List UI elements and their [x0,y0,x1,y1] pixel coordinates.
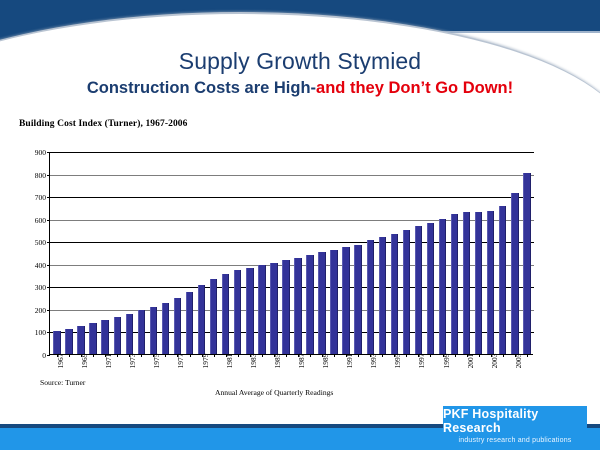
x-label-cell [158,359,170,393]
y-tick-label: 500 [20,238,46,247]
y-tick-label: 900 [20,148,46,157]
chart-bar-cell [424,151,436,354]
chart-bars [51,151,533,354]
x-tick-mark [479,354,480,357]
chart-bar [186,292,193,354]
x-label-cell: 1997 [411,359,423,393]
x-label-cell [134,359,146,393]
chart-bar-cell [75,151,87,354]
x-label-cell: 2003 [484,359,496,393]
chart-bar-cell [232,151,244,354]
chart-bar-cell [280,151,292,354]
chart-bar [354,245,361,354]
chart-bar-cell [171,151,183,354]
x-label-cell: 1973 [122,359,134,393]
y-tick-label: 800 [20,171,46,180]
x-label-cell [183,359,195,393]
chart-bar [101,320,108,354]
chart-bar-cell [340,151,352,354]
x-tick-mark [69,354,70,357]
chart-bar [234,270,241,354]
chart-bar [342,247,349,354]
chart-bar-cell [304,151,316,354]
x-tick-mark [358,354,359,357]
y-tick-label: 100 [20,328,46,337]
x-label-cell [423,359,435,393]
chart-bar-cell [521,151,533,354]
x-tick-mark [310,354,311,357]
chart-bar [487,211,494,354]
x-tick-mark [455,354,456,357]
chart-bar [270,263,277,354]
chart-bar [367,240,374,354]
y-tick-mark [47,355,50,356]
x-tick-mark [238,354,239,357]
chart-bar-cell [147,151,159,354]
chart-bar [391,234,398,354]
chart-bar [150,307,157,354]
chart-bar-cell [352,151,364,354]
x-label-cell [520,359,532,393]
chart-bar-cell [63,151,75,354]
chart-bar-cell [196,151,208,354]
chart-bar-cell [244,151,256,354]
chart-bar [318,252,325,354]
chart-bar-cell [316,151,328,354]
x-tick-mark [430,354,431,357]
chart-bar [475,212,482,354]
chart-bar-cell [184,151,196,354]
x-label-cell [110,359,122,393]
chart-bar [246,268,253,354]
x-label-cell: 2005 [508,359,520,393]
x-label-cell [399,359,411,393]
chart-bar [53,331,60,354]
x-label-cell [375,359,387,393]
x-tick-mark [141,354,142,357]
slide-title: Supply Growth Stymied [0,48,600,75]
chart-bar [499,206,506,354]
chart-bar-cell [328,151,340,354]
logo-tagline: industry research and publications [458,437,571,444]
chart-bar-cell [376,151,388,354]
x-label-cell: 2001 [460,359,472,393]
x-label-cell [472,359,484,393]
chart-bar [282,260,289,354]
chart-bar [330,250,337,354]
x-tick-mark [165,354,166,357]
chart-bar [403,230,410,354]
y-tick-mark [47,242,50,243]
y-tick-mark [47,265,50,266]
y-tick-mark [47,332,50,333]
chart-bar-cell [437,151,449,354]
chart-bar [439,219,446,354]
x-label-cell [351,359,363,393]
chart-bar [415,226,422,354]
chart-bar [210,279,217,354]
chart-bar-cell [461,151,473,354]
chart-bar-cell [388,151,400,354]
chart-bar-cell [485,151,497,354]
x-tick-mark [406,354,407,357]
pkf-logo: PKF Hospitality Research industry resear… [443,406,587,444]
chart-bar-cell [292,151,304,354]
chart-bar [89,323,96,354]
chart-bar [162,303,169,354]
chart-bar [65,329,72,354]
chart-bar-cell [159,151,171,354]
y-tick-mark [47,152,50,153]
y-tick-mark [47,175,50,176]
chart-bar [523,173,530,354]
x-tick-mark [262,354,263,357]
chart-bar [463,212,470,354]
x-label-cell: 1969 [74,359,86,393]
x-tick-mark [93,354,94,357]
subtitle-lead-text: Construction Costs are High- [87,79,316,97]
y-tick-label: 400 [20,261,46,270]
y-tick-label: 600 [20,216,46,225]
chart-bar-cell [473,151,485,354]
chart-bar [174,298,181,354]
chart-bar [77,326,84,354]
y-tick-mark [47,310,50,311]
x-label-cell: 1993 [363,359,375,393]
chart-bar-cell [412,151,424,354]
x-label-cell: 1977 [170,359,182,393]
x-label-cell: 1999 [436,359,448,393]
subtitle-highlight-text: and they Don’t Go Down! [316,79,513,97]
y-tick-label: 300 [20,283,46,292]
y-tick-label: 200 [20,306,46,315]
chart-bar-cell [220,151,232,354]
chart-bar-cell [268,151,280,354]
slide-subtitle: Construction Costs are High-and they Don… [0,79,600,98]
chart-bar [379,237,386,354]
logo-title: PKF Hospitality Research [443,407,587,435]
x-label-cell [62,359,74,393]
chart-bar [198,285,205,354]
y-tick-label: 700 [20,193,46,202]
x-tick-mark [334,354,335,357]
x-label-cell [86,359,98,393]
x-label-cell: 1975 [146,359,158,393]
x-axis-caption: Annual Average of Quarterly Readings [215,388,333,397]
x-tick-mark [214,354,215,357]
chart-bar-cell [51,151,63,354]
chart-bar-cell [509,151,521,354]
y-tick-mark [47,197,50,198]
y-tick-label: 0 [20,351,46,360]
x-label-cell: 1995 [387,359,399,393]
chart-bar-cell [364,151,376,354]
chart-bar-cell [400,151,412,354]
x-label-cell: 1991 [339,359,351,393]
chart-bar-cell [497,151,509,354]
x-label-cell: 1971 [98,359,110,393]
x-tick-mark [190,354,191,357]
chart-bar [126,314,133,354]
chart-bar [294,258,301,354]
chart-bar-cell [87,151,99,354]
chart-bar-cell [449,151,461,354]
chart-bar [306,255,313,354]
x-tick-mark [117,354,118,357]
x-tick-mark [503,354,504,357]
x-tick-mark [382,354,383,357]
x-tick-mark [286,354,287,357]
chart-bar-cell [256,151,268,354]
chart-bar-cell [111,151,123,354]
source-note: Source: Turner [40,378,85,387]
chart-bar-cell [123,151,135,354]
chart-title: Building Cost Index (Turner), 1967-2006 [19,119,188,129]
chart-bar [451,214,458,354]
x-label-cell [496,359,508,393]
chart-bar [258,265,265,354]
chart-bar [222,274,229,354]
x-label-cell [448,359,460,393]
chart-bar-cell [135,151,147,354]
x-label-cell: 1967 [50,359,62,393]
chart-bar-cell [208,151,220,354]
chart-plot-area: 0100200300400500600700800900 [49,152,533,355]
y-tick-mark [47,220,50,221]
chart-bar [114,317,121,354]
chart-bar [138,310,145,354]
x-label-cell: 1979 [195,359,207,393]
chart-plot-wrapper: 0100200300400500600700800900 19671969197… [19,148,534,360]
x-tick-mark [527,354,528,357]
y-tick-mark [47,287,50,288]
chart-bar-cell [99,151,111,354]
chart-bar [427,223,434,354]
chart-bar [511,193,518,354]
